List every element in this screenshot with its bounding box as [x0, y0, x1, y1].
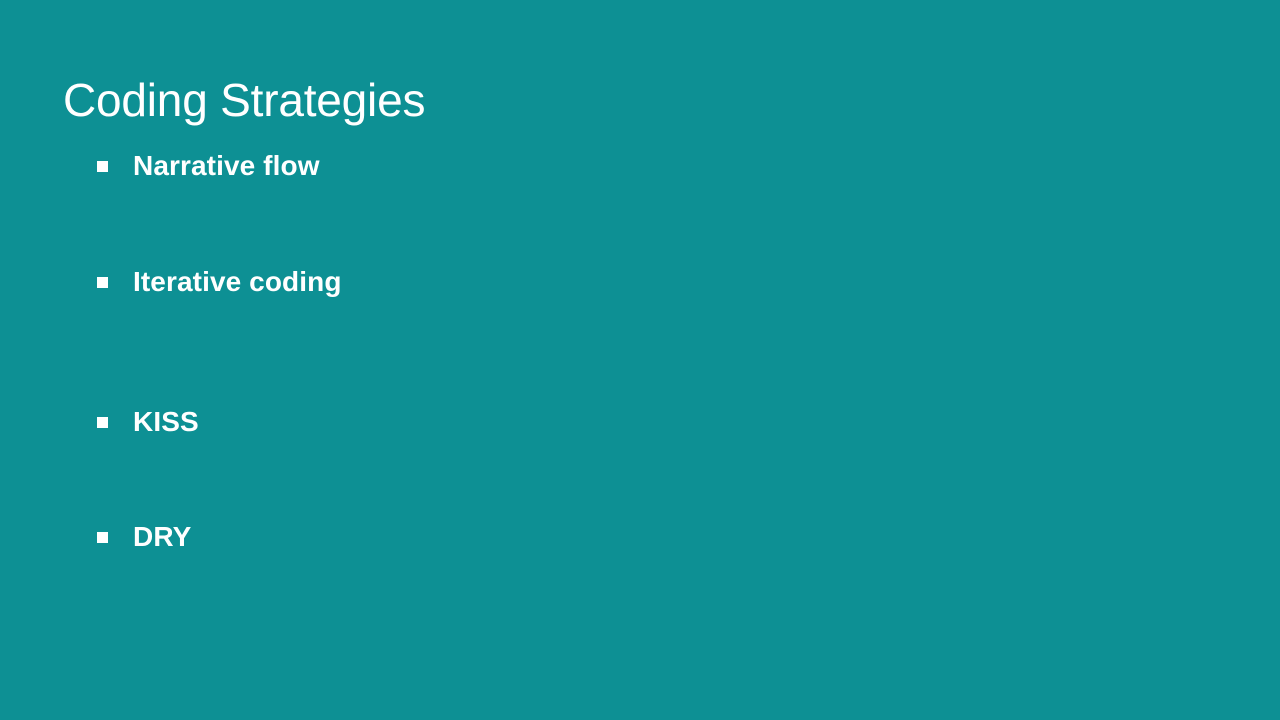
page-title: Coding Strategies: [63, 75, 425, 126]
list-item-label: Narrative flow: [133, 150, 320, 182]
list-item: DRY: [97, 521, 191, 553]
list-item: Iterative coding: [97, 266, 342, 298]
list-item-label: Iterative coding: [133, 266, 342, 298]
square-bullet-icon: [97, 161, 108, 172]
square-bullet-icon: [97, 417, 108, 428]
square-bullet-icon: [97, 277, 108, 288]
list-item: Narrative flow: [97, 150, 320, 182]
list-item: KISS: [97, 406, 199, 438]
list-item-label: KISS: [133, 406, 199, 438]
square-bullet-icon: [97, 532, 108, 543]
presentation-slide: Coding Strategies Narrative flow Iterati…: [0, 0, 1280, 720]
list-item-label: DRY: [133, 521, 191, 553]
